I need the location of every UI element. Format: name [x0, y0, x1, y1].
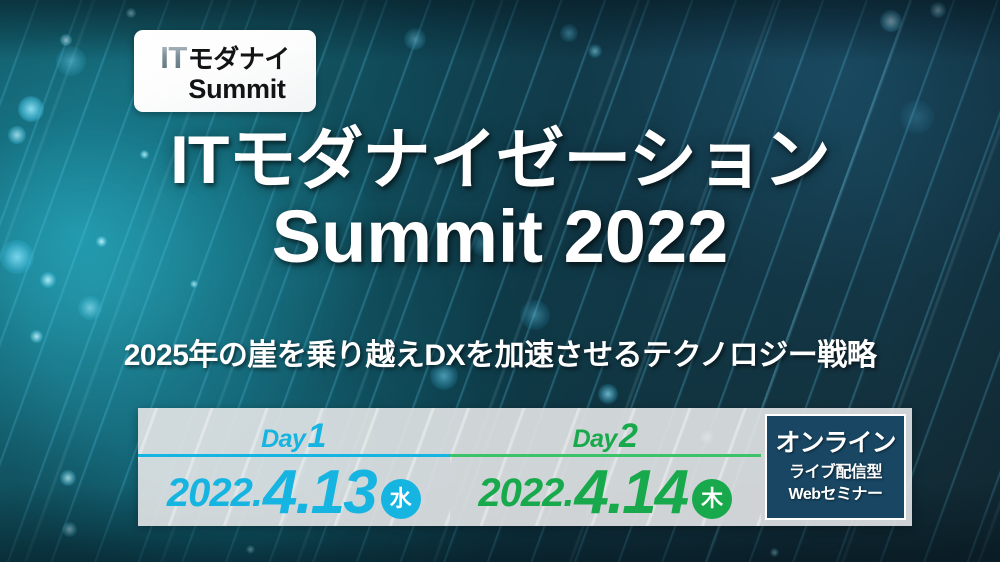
day-1-rule [138, 454, 450, 457]
logo-it-text: IT [160, 42, 187, 73]
day-2-month-day: 4.14 [574, 462, 687, 524]
logo-modernize-text: モダナイ [188, 46, 290, 72]
event-subtitle: 2025年の崖を乗り越えDXを加速させるテクノロジー戦略 [0, 330, 1000, 374]
day-1-date: 2022. 4.13 水 [138, 462, 450, 524]
title-line-2: Summit 2022 [0, 198, 1000, 276]
online-badge-wrap: オンライン ライブ配信型 Webセミナー [761, 408, 912, 526]
day-2-date: 2022. 4.14 木 [450, 462, 762, 524]
day-1-month-day: 4.13 [263, 462, 376, 524]
day-1-weekday-badge: 水 [381, 479, 421, 519]
day-2-year: 2022. [478, 473, 573, 513]
online-badge-sub2: Webセミナー [789, 487, 883, 503]
online-badge: オンライン ライブ配信型 Webセミナー [765, 414, 906, 520]
day-2-block: Day 2 2022. 4.14 木 [450, 408, 762, 526]
day-1-number: 1 [307, 419, 326, 453]
day-2-word: Day [573, 427, 617, 452]
event-logo: IT モダナイ Summit [134, 30, 316, 112]
day-2-weekday-badge: 木 [692, 479, 732, 519]
day-2-label: Day 2 [573, 419, 638, 453]
logo-summit-text: Summit [188, 76, 285, 103]
online-badge-main: オンライン [775, 431, 895, 456]
event-banner: IT モダナイ Summit ITモダナイゼーション Summit 2022 2… [0, 0, 1000, 562]
day-1-label: Day 1 [261, 419, 326, 453]
event-title: ITモダナイゼーション Summit 2022 [0, 124, 1000, 277]
title-line-1: ITモダナイゼーション [0, 124, 1000, 196]
day-2-rule [450, 454, 762, 457]
logo-top-row: IT モダナイ [160, 42, 290, 73]
day-1-word: Day [261, 427, 305, 452]
event-dates-panel: Day 1 2022. 4.13 水 Day 2 2022. 4.14 木 [138, 408, 912, 526]
day-1-block: Day 1 2022. 4.13 水 [138, 408, 450, 526]
day-1-year: 2022. [167, 473, 262, 513]
day-2-number: 2 [619, 419, 638, 453]
online-badge-sub1: ライブ配信型 [789, 465, 882, 481]
